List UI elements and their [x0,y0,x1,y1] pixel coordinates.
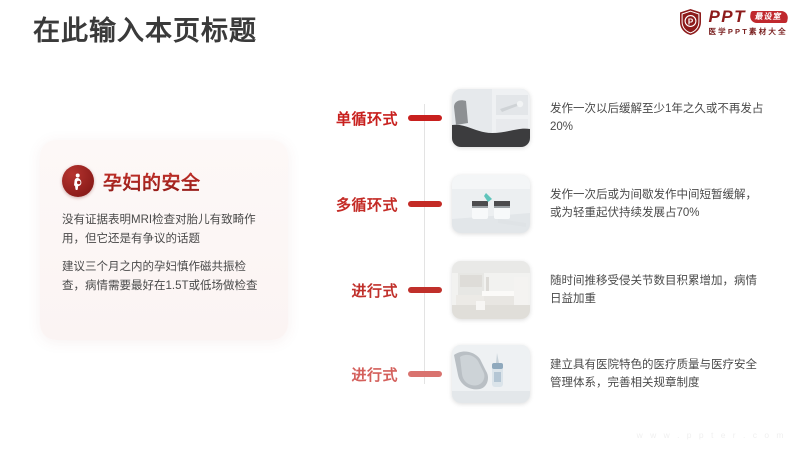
row-description: 发作一次后或为间歇发作中间短暂缓解，或为轻重起伏持续发展占70% [550,186,768,223]
info-card: 孕妇的安全 没有证据表明MRI检查对胎儿有致畸作用，但它还是有争议的话题 建议三… [40,140,288,340]
row-description: 发作一次以后缓解至少1年之久或不再发占20% [550,100,768,137]
list-item[interactable]: 多循环式 发作一次后或为间歇发作中间短暂缓解，或为轻重起伏持续发展占70% [300,175,800,233]
gloved-hand-vial-photo [452,345,530,403]
row-description: 建立具有医院特色的医疗质量与医疗安全管理体系，完善相关规章制度 [550,356,768,393]
brand-logo: P PPT 最设室 医学PPT素材大全 [678,8,788,36]
pregnant-woman-icon [62,165,94,197]
row-label: 进行式 [300,280,398,301]
info-card-paragraph: 没有证据表明MRI检查对胎儿有致畸作用，但它还是有争议的话题 [62,211,266,249]
brand-name: PPT [708,8,746,25]
info-card-body: 没有证据表明MRI检查对胎儿有致畸作用，但它还是有争议的话题 建议三个月之内的孕… [62,211,266,296]
list-item[interactable]: 进行式 随时间推移受侵关节数目积累增加，病情日益加重 [300,261,800,319]
row-label: 进行式 [300,364,398,385]
slide-root: 在此输入本页标题 P PPT 最设室 医学PPT素材大全 [0,0,800,450]
watermark: w w w . p p t e r . c o m [637,430,786,440]
clinic-room-photo [452,261,530,319]
list-item[interactable]: 单循环式 发作一次以后缓解至少1年之久或不再发占20% [300,89,800,147]
info-card-paragraph: 建议三个月之内的孕妇慎作磁共振检查，病情需要最好在1.5T或低场做检查 [62,258,266,296]
info-card-title: 孕妇的安全 [103,168,201,195]
row-label: 单循环式 [300,108,398,129]
row-dash-icon [408,201,442,207]
page-title: 在此输入本页标题 [33,17,257,47]
dental-chair-photo [452,89,530,147]
row-description: 随时间推移受侵关节数目积累增加，病情日益加重 [550,272,768,309]
row-dash-icon [408,115,442,121]
list-item[interactable]: 进行式 建立具有医院特色的医疗质量与医疗安全管理体系，完善相关规章制度 [300,345,800,403]
row-label: 多循环式 [300,194,398,215]
shield-icon: P [678,8,703,36]
brand-text-block: PPT 最设室 医学PPT素材大全 [708,8,788,36]
brand-tagline: 医学PPT素材大全 [708,28,788,36]
row-dash-icon [408,287,442,293]
svg-text:P: P [688,18,694,27]
info-card-header: 孕妇的安全 [62,165,288,197]
medical-vials-photo [452,175,530,233]
brand-badge: 最设室 [749,11,789,23]
row-dash-icon [408,371,442,377]
